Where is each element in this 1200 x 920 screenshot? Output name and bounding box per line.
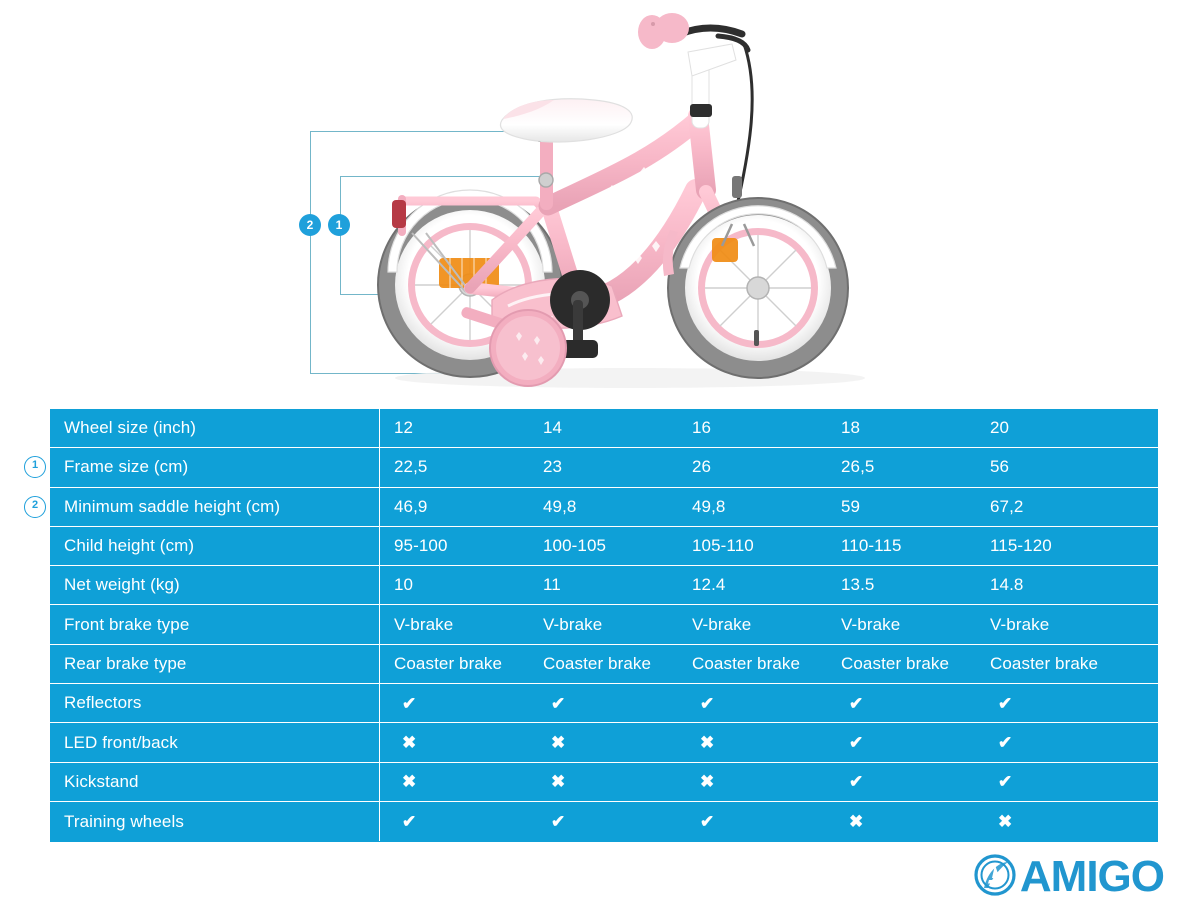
cross-icon: ✖ (998, 813, 1012, 830)
check-icon-cell: ✔ (976, 684, 1125, 722)
table-row: Kickstand✖✖✖✔✔ (50, 763, 1158, 802)
check-icon-cell: ✔ (827, 763, 976, 801)
row-label: Wheel size (inch) (50, 409, 380, 447)
specification-comparison-table: Wheel size (inch)12141618201Frame size (… (50, 409, 1158, 842)
callout-badge-1: 1 (328, 214, 350, 236)
cross-icon-cell: ✖ (976, 802, 1125, 841)
check-icon-cell: ✔ (827, 723, 976, 761)
table-cell: 22,5 (380, 448, 529, 486)
table-cell: 18 (827, 409, 976, 447)
check-icon: ✔ (849, 734, 863, 751)
table-cell: 110-115 (827, 527, 976, 565)
table-cell: Coaster brake (380, 645, 529, 683)
check-icon-cell: ✔ (827, 684, 976, 722)
check-icon: ✔ (700, 695, 714, 712)
row-label: Kickstand (50, 763, 380, 801)
check-icon-cell: ✔ (380, 802, 529, 841)
cross-icon: ✖ (849, 813, 863, 830)
table-cell: 26 (678, 448, 827, 486)
row-label: Front brake type (50, 605, 380, 643)
table-cell: 14 (529, 409, 678, 447)
check-icon-cell: ✔ (678, 802, 827, 841)
row-label: Frame size (cm) (50, 448, 380, 486)
table-cell: V-brake (529, 605, 678, 643)
table-row: 2Minimum saddle height (cm)46,949,849,85… (50, 488, 1158, 527)
table-row: 1Frame size (cm)22,5232626,556 (50, 448, 1158, 487)
table-cell: 10 (380, 566, 529, 604)
table-cell: 115-120 (976, 527, 1125, 565)
cross-icon: ✖ (402, 773, 416, 790)
cross-icon-cell: ✖ (380, 723, 529, 761)
row-label: Reflectors (50, 684, 380, 722)
cross-icon-cell: ✖ (529, 723, 678, 761)
check-icon: ✔ (402, 695, 416, 712)
table-cell: 11 (529, 566, 678, 604)
cross-icon: ✖ (402, 734, 416, 751)
table-cell: 23 (529, 448, 678, 486)
table-cell: 105-110 (678, 527, 827, 565)
check-icon-cell: ✔ (380, 684, 529, 722)
table-cell: V-brake (678, 605, 827, 643)
table-row: LED front/back✖✖✖✔✔ (50, 723, 1158, 762)
check-icon: ✔ (700, 813, 714, 830)
table-cell: 49,8 (678, 488, 827, 526)
product-figure: 2 1 (0, 0, 1200, 400)
table-row: Child height (cm)95-100100-105105-110110… (50, 527, 1158, 566)
table-cell: Coaster brake (529, 645, 678, 683)
check-icon-cell: ✔ (976, 723, 1125, 761)
table-row: Training wheels✔✔✔✖✖ (50, 802, 1158, 841)
table-row: Reflectors✔✔✔✔✔ (50, 684, 1158, 723)
table-cell: 12.4 (678, 566, 827, 604)
front-wheel (668, 198, 848, 378)
table-cell: 59 (827, 488, 976, 526)
table-cell: Coaster brake (976, 645, 1125, 683)
table-row: Wheel size (inch)1214161820 (50, 409, 1158, 448)
table-cell: 46,9 (380, 488, 529, 526)
table-cell: V-brake (827, 605, 976, 643)
row-label: Minimum saddle height (cm) (50, 488, 380, 526)
table-cell: 100-105 (529, 527, 678, 565)
table-cell: 67,2 (976, 488, 1125, 526)
row-label: Net weight (kg) (50, 566, 380, 604)
table-row: Rear brake typeCoaster brakeCoaster brak… (50, 645, 1158, 684)
table-cell: V-brake (380, 605, 529, 643)
row-label: Training wheels (50, 802, 380, 841)
table-cell: 12 (380, 409, 529, 447)
check-icon: ✔ (998, 773, 1012, 790)
row-label: LED front/back (50, 723, 380, 761)
bicycle-illustration: Lovely (340, 0, 900, 400)
table-row: Front brake typeV-brakeV-brakeV-brakeV-b… (50, 605, 1158, 644)
table-cell: 13.5 (827, 566, 976, 604)
cross-icon-cell: ✖ (827, 802, 976, 841)
check-icon: ✔ (402, 813, 416, 830)
check-icon: ✔ (849, 695, 863, 712)
row-label: Child height (cm) (50, 527, 380, 565)
row-label: Rear brake type (50, 645, 380, 683)
check-icon: ✔ (849, 773, 863, 790)
table-row: Net weight (kg)101112.413.514.8 (50, 566, 1158, 605)
brand-wordmark: AMIGO (1020, 852, 1164, 902)
check-icon-cell: ✔ (529, 802, 678, 841)
table-cell: 49,8 (529, 488, 678, 526)
row-marker-2: 2 (24, 496, 46, 518)
table-cell: 26,5 (827, 448, 976, 486)
table-cell: 20 (976, 409, 1125, 447)
cross-icon: ✖ (700, 734, 714, 751)
check-icon: ✔ (998, 734, 1012, 751)
check-icon-cell: ✔ (529, 684, 678, 722)
cross-icon-cell: ✖ (678, 763, 827, 801)
cross-icon: ✖ (700, 773, 714, 790)
callout-badge-2: 2 (299, 214, 321, 236)
cross-icon-cell: ✖ (380, 763, 529, 801)
check-icon: ✔ (551, 813, 565, 830)
cross-icon-cell: ✖ (529, 763, 678, 801)
check-icon-cell: ✔ (976, 763, 1125, 801)
check-icon: ✔ (551, 695, 565, 712)
table-cell: 16 (678, 409, 827, 447)
table-cell: Coaster brake (827, 645, 976, 683)
bicycle-svg: Lovely (340, 0, 900, 400)
cross-icon-cell: ✖ (678, 723, 827, 761)
row-marker-1: 1 (24, 456, 46, 478)
table-cell: 95-100 (380, 527, 529, 565)
amigo-circle-a-emblem (974, 854, 1016, 901)
callout-2-vertical-line (310, 131, 311, 374)
table-cell: V-brake (976, 605, 1125, 643)
cross-icon: ✖ (551, 734, 565, 751)
check-icon: ✔ (998, 695, 1012, 712)
table-cell: 56 (976, 448, 1125, 486)
brand-logo[interactable]: AMIGO (974, 852, 1164, 902)
cross-icon: ✖ (551, 773, 565, 790)
check-icon-cell: ✔ (678, 684, 827, 722)
table-cell: Coaster brake (678, 645, 827, 683)
table-cell: 14.8 (976, 566, 1125, 604)
